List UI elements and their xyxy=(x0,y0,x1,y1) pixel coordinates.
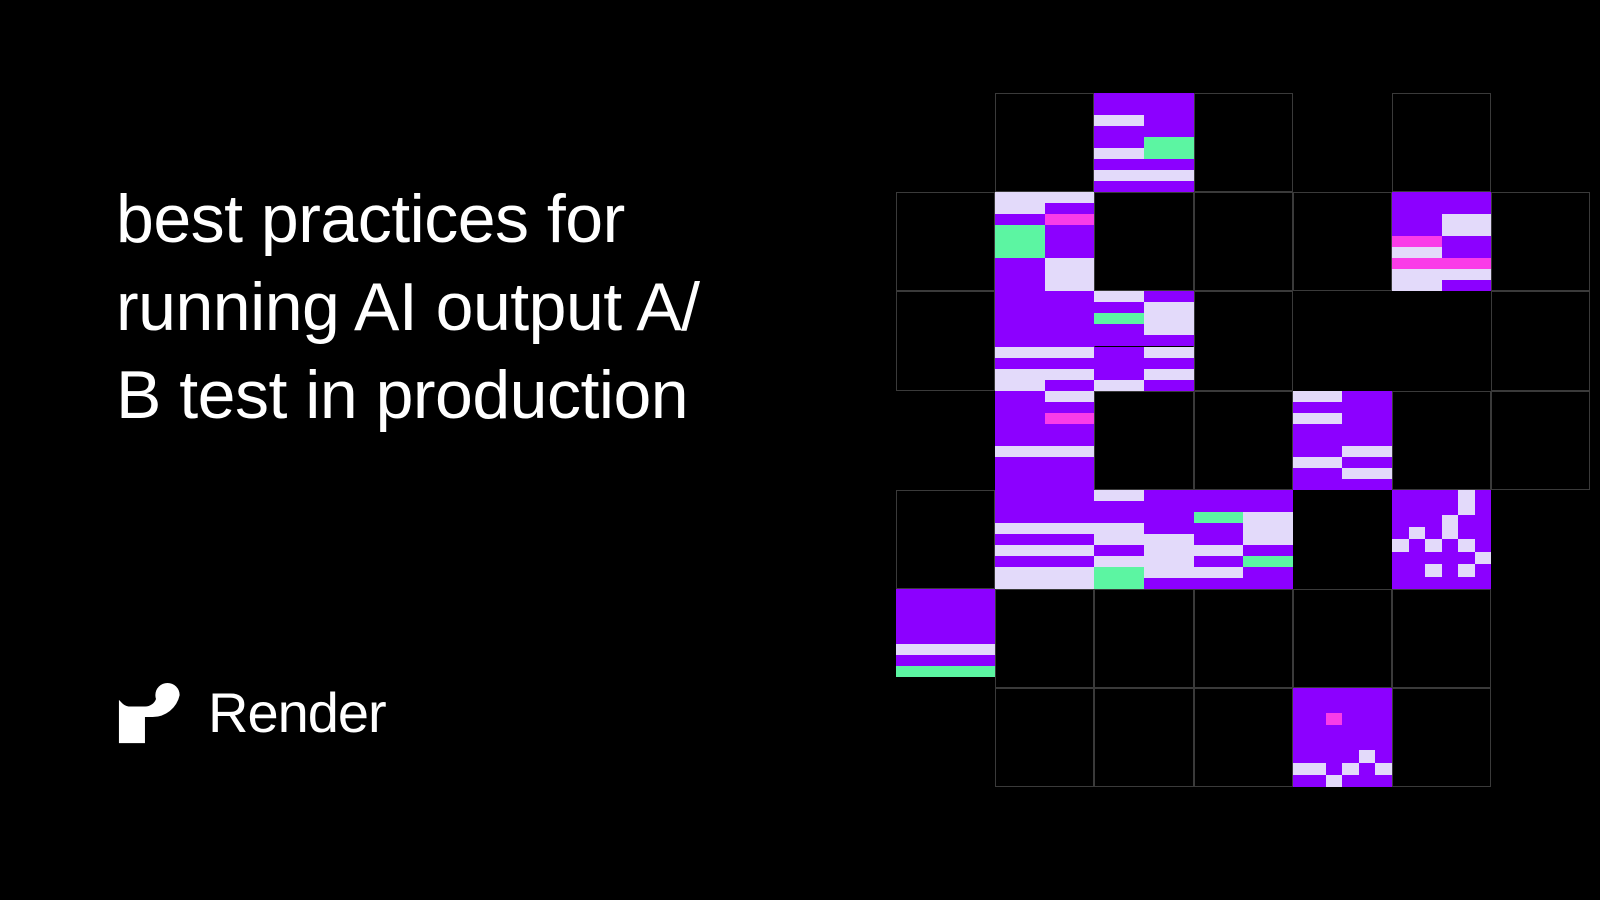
mosaic-pixel xyxy=(1342,775,1359,787)
mosaic-stripe-lavender xyxy=(1243,512,1293,523)
mosaic-stripe-lavender xyxy=(1144,545,1194,556)
mosaic-stripe-pink xyxy=(1045,214,1095,225)
mosaic-stripe-lavender xyxy=(1045,192,1095,203)
mosaic-stripe-purple xyxy=(1094,358,1144,369)
mosaic-stripe-lavender xyxy=(1442,269,1492,280)
mosaic-stripe-purple xyxy=(1045,225,1095,236)
mosaic-pixel xyxy=(1475,539,1492,551)
mosaic-cell-empty-r1c0 xyxy=(896,192,995,291)
mosaic-stripe-pink xyxy=(1392,258,1442,269)
mosaic-cell-empty-r2c3 xyxy=(1194,291,1293,390)
mosaic-stripe-purple xyxy=(1094,302,1144,313)
mosaic-stripe-lavender xyxy=(1094,170,1193,181)
mosaic-stripe-pink xyxy=(1392,236,1442,247)
mosaic-stripe-purple xyxy=(1144,126,1194,137)
mosaic-stripe-purple xyxy=(1342,402,1392,413)
mosaic-stripe-purple xyxy=(1045,236,1095,247)
mosaic-stripe-green xyxy=(896,666,946,677)
mosaic-pixel xyxy=(1442,564,1459,576)
mosaic-stripe-purple xyxy=(1194,556,1244,567)
decorative-pixel-mosaic xyxy=(896,93,1600,787)
mosaic-stripe-lavender xyxy=(995,523,1094,534)
mosaic-stripe-purple xyxy=(1144,291,1194,302)
mosaic-stripe-green xyxy=(1094,313,1144,324)
mosaic-pixel xyxy=(1425,515,1442,527)
mosaic-pixel xyxy=(1458,552,1475,564)
mosaic-cell-empty-r6c3 xyxy=(1194,688,1293,787)
mosaic-pixel xyxy=(1375,725,1392,737)
mosaic-stripe-lavender xyxy=(1342,446,1392,457)
mosaic-stripe-purple xyxy=(1243,545,1293,556)
mosaic-stripe-purple xyxy=(1045,402,1095,413)
mosaic-stripe-purple xyxy=(1094,501,1193,523)
mosaic-stripe-lavender xyxy=(1094,148,1144,159)
mosaic-cell-r4c3 xyxy=(1194,490,1293,589)
mosaic-cell-empty-r3c6 xyxy=(1491,391,1590,490)
mosaic-stripe-purple xyxy=(995,457,1094,490)
mosaic-pixel xyxy=(1409,577,1426,589)
mosaic-pixel xyxy=(1442,490,1459,502)
mosaic-stripe-purple xyxy=(1392,225,1442,236)
mosaic-pixel xyxy=(1375,738,1392,750)
brand-lockup: Render xyxy=(112,676,386,750)
mosaic-pixel xyxy=(1359,725,1376,737)
mosaic-stripe-purple xyxy=(1144,115,1194,126)
mosaic-stripe-purple xyxy=(1094,93,1193,115)
mosaic-stripe-purple xyxy=(1442,280,1492,291)
mosaic-pixel xyxy=(1375,701,1392,713)
mosaic-stripe-lavender xyxy=(1392,269,1442,280)
mosaic-pixel xyxy=(1425,539,1442,551)
mosaic-pixel xyxy=(1475,490,1492,502)
mosaic-stripe-purple xyxy=(995,291,1094,346)
mosaic-pixel xyxy=(1375,763,1392,775)
mosaic-stripe-lavender xyxy=(1045,258,1095,269)
mosaic-pixel xyxy=(1326,688,1343,700)
mosaic-stripe-purple xyxy=(1045,247,1095,258)
mosaic-pixel xyxy=(1392,577,1409,589)
mosaic-cell-empty-r1c6 xyxy=(1491,192,1590,291)
mosaic-stripe-purple xyxy=(1094,369,1144,380)
mosaic-stripe-purple xyxy=(1293,446,1343,457)
mosaic-stripe-purple xyxy=(995,556,1094,567)
mosaic-pixel xyxy=(1375,713,1392,725)
mosaic-pixel xyxy=(1458,515,1475,527)
mosaic-stripe-purple xyxy=(995,391,1045,402)
mosaic-stripe-purple xyxy=(1094,545,1144,556)
mosaic-pixel xyxy=(1293,738,1310,750)
mosaic-cell-r1c5 xyxy=(1392,192,1491,291)
mosaic-pixel xyxy=(1342,750,1359,762)
mosaic-stripe-purple xyxy=(1194,534,1244,545)
mosaic-stripe-lavender xyxy=(995,347,1094,358)
mosaic-cell-r4c5-checker xyxy=(1392,490,1491,589)
mosaic-pixel xyxy=(1425,490,1442,502)
mosaic-pixel xyxy=(1375,750,1392,762)
brand-name: Render xyxy=(208,685,386,741)
mosaic-pixel xyxy=(1425,552,1442,564)
mosaic-cell-empty-r4c0 xyxy=(896,490,995,589)
mosaic-stripe-lavender xyxy=(1144,324,1194,335)
mosaic-pixel xyxy=(1326,750,1343,762)
mosaic-cell-r5c0 xyxy=(896,589,995,688)
mosaic-pixel xyxy=(1392,552,1409,564)
mosaic-cell-empty-r3c3 xyxy=(1194,391,1293,490)
mosaic-stripe-purple xyxy=(1094,137,1144,148)
mosaic-stripe-lavender xyxy=(995,203,1045,214)
mosaic-cell-empty-r3c2 xyxy=(1094,391,1193,490)
mosaic-pixel xyxy=(1442,552,1459,564)
mosaic-stripe-lavender xyxy=(1045,391,1095,402)
mosaic-stripe-lavender xyxy=(995,192,1045,203)
mosaic-cell-r6c4-checker xyxy=(1293,688,1392,787)
mosaic-pixel xyxy=(1409,515,1426,527)
mosaic-pixel xyxy=(1293,750,1310,762)
mosaic-stripe-lavender xyxy=(1094,380,1144,391)
mosaic-pixel xyxy=(1309,688,1326,700)
mosaic-stripe-lavender xyxy=(1144,556,1194,567)
mosaic-pixel xyxy=(1475,552,1492,564)
mosaic-stripe-purple xyxy=(995,413,1045,424)
mosaic-stripe-lavender xyxy=(1392,247,1442,258)
mosaic-pixel xyxy=(1342,738,1359,750)
mosaic-cell-empty-r1c2 xyxy=(1094,192,1193,291)
mosaic-pixel xyxy=(1326,738,1343,750)
mosaic-stripe-purple xyxy=(1194,523,1244,534)
mosaic-pixel xyxy=(1326,725,1343,737)
mosaic-stripe-purple xyxy=(1144,380,1194,391)
mosaic-stripe-green xyxy=(1094,567,1144,578)
mosaic-stripe-green xyxy=(995,236,1045,247)
mosaic-stripe-green xyxy=(1094,578,1144,589)
mosaic-stripe-purple xyxy=(1144,490,1194,501)
mosaic-stripe-purple xyxy=(1342,391,1392,402)
mosaic-pixel xyxy=(1392,490,1409,502)
mosaic-stripe-lavender xyxy=(1194,567,1244,578)
mosaic-pixel xyxy=(1392,564,1409,576)
mosaic-stripe-purple xyxy=(995,358,1094,369)
mosaic-pixel-accent xyxy=(1326,713,1343,725)
mosaic-pixel xyxy=(1409,539,1426,551)
mosaic-stripe-lavender xyxy=(995,567,1094,589)
mosaic-stripe-purple xyxy=(1094,347,1144,358)
page-title: best practices for running AI output A/ … xyxy=(116,175,816,439)
mosaic-stripe-lavender xyxy=(1144,347,1194,358)
mosaic-stripe-lavender xyxy=(1293,457,1343,468)
mosaic-pixel xyxy=(1475,527,1492,539)
mosaic-stripe-purple xyxy=(1144,578,1194,589)
mosaic-cell-r2c1 xyxy=(995,291,1094,390)
mosaic-pixel xyxy=(1359,775,1376,787)
mosaic-stripe-purple xyxy=(896,589,995,644)
mosaic-stripe-purple xyxy=(1045,203,1095,214)
mosaic-pixel xyxy=(1392,539,1409,551)
mosaic-stripe-purple xyxy=(896,655,995,666)
mosaic-pixel xyxy=(1475,502,1492,514)
mosaic-stripe-lavender xyxy=(1144,369,1194,380)
render-logo-icon xyxy=(112,676,186,750)
mosaic-pixel xyxy=(1409,490,1426,502)
mosaic-stripe-purple xyxy=(1342,413,1392,424)
mosaic-pixel xyxy=(1409,564,1426,576)
mosaic-cell-empty-r6c2 xyxy=(1094,688,1193,787)
mosaic-stripe-green xyxy=(1194,512,1244,523)
mosaic-stripe-lavender xyxy=(1144,567,1194,578)
mosaic-pixel xyxy=(1309,775,1326,787)
mosaic-pixel xyxy=(1309,713,1326,725)
mosaic-stripe-purple xyxy=(995,534,1094,545)
mosaic-pixel xyxy=(1326,763,1343,775)
mosaic-pixel xyxy=(1458,527,1475,539)
mosaic-stripe-purple xyxy=(995,490,1094,523)
mosaic-cell-empty-r3c5 xyxy=(1392,391,1491,490)
mosaic-stripe-purple xyxy=(1144,358,1194,369)
mosaic-pixel xyxy=(1458,577,1475,589)
mosaic-stripe-lavender xyxy=(995,369,1094,380)
mosaic-stripe-lavender xyxy=(1094,523,1144,534)
mosaic-stripe-lavender xyxy=(1094,556,1144,567)
mosaic-stripe-purple xyxy=(1342,457,1392,468)
mosaic-stripe-purple xyxy=(1194,578,1293,589)
mosaic-stripe-purple xyxy=(1293,402,1343,413)
mosaic-cell-r4c2 xyxy=(1094,490,1193,589)
mosaic-stripe-lavender xyxy=(995,446,1094,457)
mosaic-stripe-purple xyxy=(995,214,1045,225)
mosaic-stripe-purple xyxy=(1243,501,1293,512)
mosaic-stripe-lavender xyxy=(1243,534,1293,545)
mosaic-stripe-purple xyxy=(1243,567,1293,578)
mosaic-stripe-purple xyxy=(1442,247,1492,258)
mosaic-pixel xyxy=(1392,527,1409,539)
mosaic-cell-empty-r0c3 xyxy=(1194,93,1293,192)
mosaic-pixel xyxy=(1359,713,1376,725)
mosaic-cell-r1c1 xyxy=(995,192,1094,291)
mosaic-cell-empty-r5c1 xyxy=(995,589,1094,688)
mosaic-stripe-purple xyxy=(995,258,1045,269)
mosaic-cell-empty-r1c3 xyxy=(1194,192,1293,291)
mosaic-stripe-lavender xyxy=(995,545,1094,556)
mosaic-cell-r3c1 xyxy=(995,391,1094,490)
mosaic-stripe-green xyxy=(995,247,1045,258)
mosaic-stripe-green xyxy=(1144,148,1194,159)
mosaic-pixel xyxy=(1309,750,1326,762)
mosaic-pixel xyxy=(1293,688,1310,700)
mosaic-cell-r4c1 xyxy=(995,490,1094,589)
mosaic-cell-empty-r6c5 xyxy=(1392,688,1491,787)
mosaic-stripe-purple xyxy=(1144,523,1194,534)
mosaic-pixel xyxy=(1342,713,1359,725)
mosaic-stripe-purple xyxy=(1094,159,1193,170)
mosaic-stripe-purple xyxy=(1442,236,1492,247)
mosaic-pixel xyxy=(1392,502,1409,514)
mosaic-pixel xyxy=(1375,775,1392,787)
mosaic-stripe-pink xyxy=(1045,413,1095,424)
mosaic-stripe-purple xyxy=(1293,479,1392,490)
mosaic-stripe-lavender xyxy=(1094,291,1144,302)
mosaic-stripe-lavender xyxy=(1243,523,1293,534)
mosaic-pixel xyxy=(1309,725,1326,737)
mosaic-pixel xyxy=(1458,502,1475,514)
mosaic-pixel xyxy=(1425,564,1442,576)
mosaic-pixel xyxy=(1442,577,1459,589)
mosaic-stripe-purple xyxy=(1293,468,1343,479)
mosaic-stripe-purple xyxy=(1392,214,1442,225)
mosaic-cell-empty-r6c1 xyxy=(995,688,1094,787)
mosaic-stripe-purple xyxy=(1194,501,1244,512)
mosaic-cell-empty-r5c2 xyxy=(1094,589,1193,688)
mosaic-stripe-purple xyxy=(995,424,1094,446)
mosaic-pixel xyxy=(1458,539,1475,551)
mosaic-pixel xyxy=(1359,688,1376,700)
mosaic-stripe-purple xyxy=(995,402,1045,413)
mosaic-cell-empty-r2c0 xyxy=(896,291,995,390)
mosaic-cell-empty-r1c4 xyxy=(1293,192,1392,291)
mosaic-stripe-lavender xyxy=(1442,225,1492,236)
mosaic-stripe-lavender xyxy=(1194,545,1244,556)
mosaic-stripe-purple xyxy=(1094,335,1144,346)
mosaic-pixel xyxy=(1293,763,1310,775)
mosaic-pixel xyxy=(1442,539,1459,551)
mosaic-pixel xyxy=(1392,515,1409,527)
mosaic-pixel xyxy=(1342,725,1359,737)
mosaic-cell-r2c2 xyxy=(1094,291,1193,390)
mosaic-stripe-purple xyxy=(1293,424,1392,446)
mosaic-stripe-purple xyxy=(995,280,1045,291)
mosaic-pixel xyxy=(1326,701,1343,713)
mosaic-stripe-lavender xyxy=(1442,214,1492,225)
mosaic-pixel xyxy=(1425,502,1442,514)
mosaic-stripe-purple xyxy=(1094,126,1144,137)
mosaic-pixel xyxy=(1293,725,1310,737)
mosaic-stripe-lavender xyxy=(1392,280,1442,291)
mosaic-cell-r0c2 xyxy=(1094,93,1193,192)
mosaic-stripe-green xyxy=(946,666,996,677)
mosaic-pixel xyxy=(1359,701,1376,713)
mosaic-pixel xyxy=(1442,502,1459,514)
mosaic-pixel xyxy=(1326,775,1343,787)
mosaic-stripe-lavender xyxy=(1094,490,1144,501)
mosaic-stripe-lavender xyxy=(995,380,1045,391)
mosaic-stripe-lavender xyxy=(896,644,995,655)
mosaic-stripe-purple xyxy=(1194,490,1293,501)
mosaic-pixel xyxy=(1359,738,1376,750)
mosaic-stripe-purple xyxy=(1094,324,1144,335)
mosaic-pixel xyxy=(1375,688,1392,700)
mosaic-pixel xyxy=(1409,527,1426,539)
mosaic-stripe-lavender xyxy=(1045,269,1095,280)
mosaic-pixel xyxy=(1342,688,1359,700)
mosaic-stripe-green xyxy=(1243,556,1293,567)
mosaic-pixel xyxy=(1342,763,1359,775)
mosaic-stripe-purple xyxy=(995,269,1045,280)
mosaic-pixel xyxy=(1409,502,1426,514)
mosaic-stripe-purple xyxy=(1392,192,1491,214)
mosaic-stripe-lavender xyxy=(1094,115,1144,126)
mosaic-pixel xyxy=(1409,552,1426,564)
mosaic-cell-empty-r5c3 xyxy=(1194,589,1293,688)
mosaic-stripe-lavender xyxy=(1144,302,1194,313)
mosaic-pixel xyxy=(1425,577,1442,589)
mosaic-pixel xyxy=(1475,577,1492,589)
mosaic-stripe-purple xyxy=(1144,335,1194,346)
mosaic-cell-empty-r0c5 xyxy=(1392,93,1491,192)
mosaic-pixel xyxy=(1475,515,1492,527)
mosaic-stripe-lavender xyxy=(1293,413,1343,424)
mosaic-stripe-lavender xyxy=(1342,468,1392,479)
mosaic-cell-empty-r5c5 xyxy=(1392,589,1491,688)
mosaic-stripe-lavender xyxy=(1144,534,1194,545)
mosaic-cell-empty-r0c1 xyxy=(995,93,1094,192)
mosaic-stripe-green xyxy=(995,225,1045,236)
mosaic-pixel xyxy=(1442,527,1459,539)
mosaic-stripe-lavender xyxy=(1144,313,1194,324)
mosaic-pixel xyxy=(1458,490,1475,502)
mosaic-pixel xyxy=(1293,713,1310,725)
mosaic-stripe-purple xyxy=(1045,380,1095,391)
mosaic-stripe-purple xyxy=(1094,181,1193,192)
mosaic-cell-empty-r2c6 xyxy=(1491,291,1590,390)
mosaic-pixel xyxy=(1458,564,1475,576)
mosaic-pixel xyxy=(1342,701,1359,713)
mosaic-pixel xyxy=(1359,763,1376,775)
mosaic-pixel xyxy=(1359,750,1376,762)
render-social-card: best practices for running AI output A/ … xyxy=(0,0,1600,900)
mosaic-stripe-lavender xyxy=(1293,391,1343,402)
mosaic-cell-empty-r5c4 xyxy=(1293,589,1392,688)
mosaic-pixel xyxy=(1293,775,1310,787)
mosaic-pixel xyxy=(1309,701,1326,713)
mosaic-cell-r3c4 xyxy=(1293,391,1392,490)
mosaic-stripe-lavender xyxy=(1094,534,1144,545)
mosaic-pixel xyxy=(1293,701,1310,713)
mosaic-pixel xyxy=(1309,738,1326,750)
mosaic-stripe-lavender xyxy=(1045,280,1095,291)
mosaic-pixel xyxy=(1475,564,1492,576)
mosaic-pixel xyxy=(1442,515,1459,527)
mosaic-pixel xyxy=(1425,527,1442,539)
mosaic-stripe-pink xyxy=(1442,258,1492,269)
mosaic-stripe-green xyxy=(1144,137,1194,148)
mosaic-pixel xyxy=(1309,763,1326,775)
